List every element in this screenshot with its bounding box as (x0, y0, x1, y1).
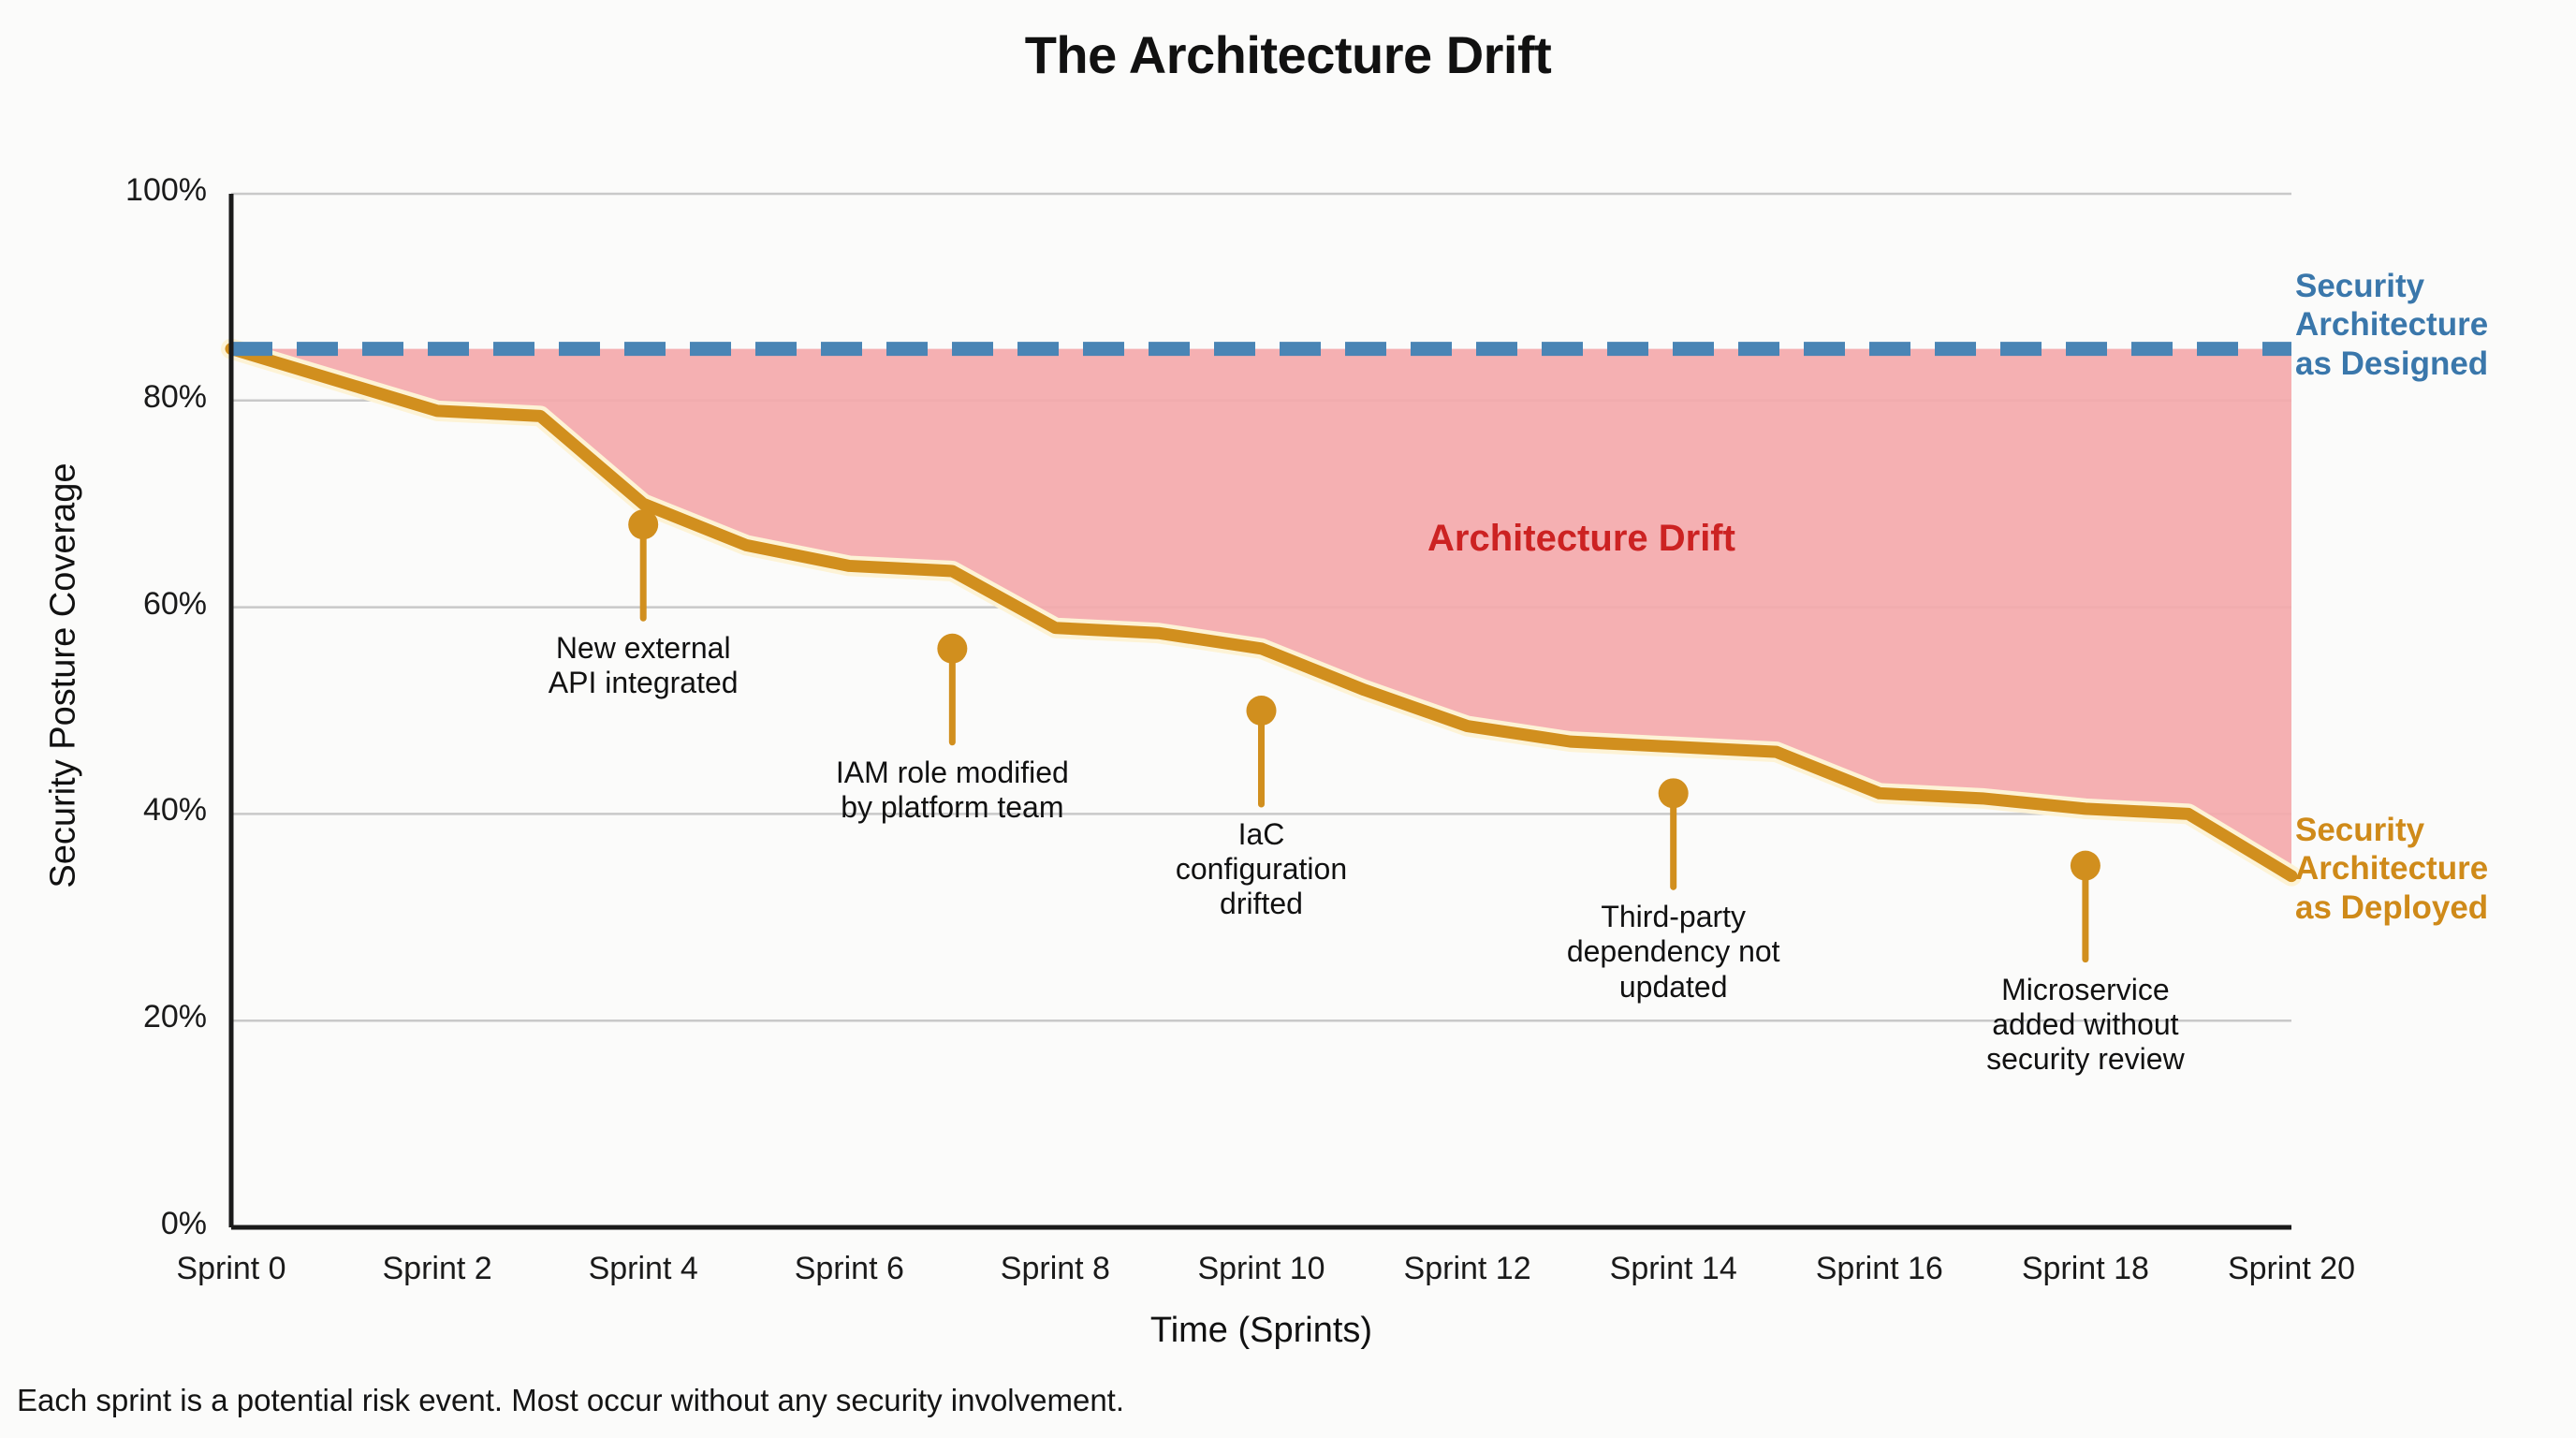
annotation-2: IAM role modifiedby platform team (671, 756, 1233, 825)
chart-root: The Architecture Drift 100%80%60%40%20%0… (0, 0, 2576, 1438)
annotation-line: security review (1805, 1042, 2366, 1077)
legend-line: Architecture (2295, 849, 2488, 888)
annotation-line: dependency not (1393, 934, 1954, 969)
annotation-line: IaC (981, 817, 1543, 852)
annotation-line: API integrated (362, 666, 924, 700)
legend-designed: SecurityArchitectureas Designed (2295, 267, 2488, 383)
annotation-line: Third-party (1393, 900, 1954, 934)
y-tick-label: 100% (38, 172, 207, 209)
legend-line: Security (2295, 811, 2488, 849)
x-axis-title: Time (Sprints) (231, 1311, 2291, 1351)
legend-line: Architecture (2295, 305, 2488, 344)
legend-deployed: SecurityArchitectureas Deployed (2295, 811, 2488, 927)
legend-line: Security (2295, 267, 2488, 305)
footer-note: Each sprint is a potential risk event. M… (17, 1383, 1124, 1418)
annotation-5: Microserviceadded withoutsecurity review (1805, 973, 2366, 1077)
annotation-line: IAM role modified (671, 756, 1233, 790)
annotation-line: configuration (981, 852, 1543, 887)
legend-line: as Deployed (2295, 888, 2488, 927)
y-tick-label: 0% (38, 1206, 207, 1242)
legend-line: as Designed (2295, 345, 2488, 383)
x-tick-label: Sprint 20 (2170, 1251, 2413, 1287)
y-axis-title: Security Posture Coverage (44, 395, 84, 957)
annotation-line: Microservice (1805, 973, 2366, 1007)
y-tick-label: 20% (38, 999, 207, 1035)
annotation-line: New external (362, 631, 924, 666)
chart-canvas (0, 0, 2576, 1438)
annotation-1: New externalAPI integrated (362, 631, 924, 700)
annotation-line: added without (1805, 1007, 2366, 1042)
drift-band-label: Architecture Drift (1427, 518, 1735, 560)
